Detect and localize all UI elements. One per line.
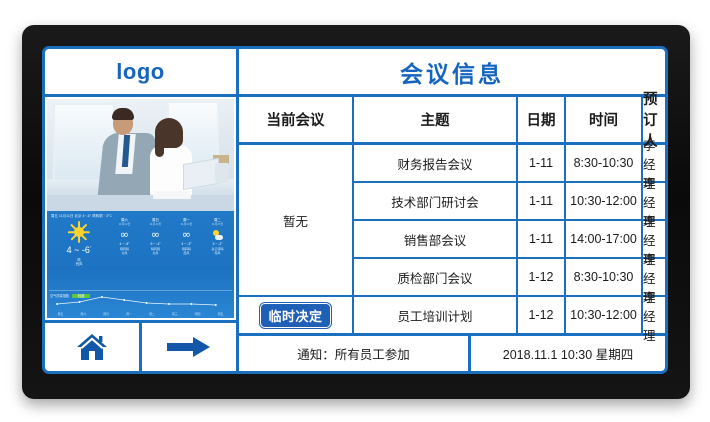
cell-subject: 技术部门研讨会	[354, 183, 518, 219]
cell-subject: 销售部会议	[354, 221, 518, 257]
cell-subject: 员工培训计划	[354, 297, 518, 333]
weather-today: 4 ~ -6° 晴 西风	[49, 220, 109, 267]
forecast-wind: 南风	[202, 251, 233, 255]
left-nav-bar	[45, 323, 236, 371]
footer-bar: 通知：所有员工参加 2018.11.1 10:30 星期四	[239, 336, 665, 371]
cell-date: 1-11	[518, 145, 566, 181]
weather-trend-chart	[49, 290, 232, 312]
weather-temp-unit: °	[90, 245, 92, 250]
left-panel: 周五 11月11日 北京 4~-6° 晴转阴 · 3°C 4 ~ -6°	[45, 97, 239, 371]
cell-subject: 财务报告会议	[354, 145, 518, 181]
forecast-wind: 北风	[109, 251, 140, 255]
table-row[interactable]: 技术部门研讨会 1-11 10:30-12:00 李经理	[354, 183, 665, 221]
cell-date: 1-11	[518, 221, 566, 257]
weather-temp-value: 4 ~ -6	[67, 245, 90, 255]
notice-text: 通知：所有员工参加	[239, 336, 471, 371]
screen: logo 会议信息	[42, 46, 668, 374]
header-bar: logo 会议信息	[45, 49, 665, 97]
weather-forecast-day: 周一 11月14日 ∞ 4 ~ -3° 阴转晴 西风	[171, 218, 202, 255]
forecast-date-label: 11月15日	[202, 223, 233, 227]
table-body: 暂无 临时决定 财务报告会议 1-11 8:30-10:30 李经理	[239, 145, 665, 336]
chart-axis-tick: 周三	[163, 313, 186, 317]
home-icon	[75, 332, 109, 362]
photo-cup	[215, 163, 229, 183]
chart-axis-tick: 周五	[209, 313, 232, 317]
photo-desk-front	[47, 195, 234, 211]
chart-axis-tick: 周日	[95, 313, 118, 317]
weather-forecast-day: 周二 11月15日 3 ~ -2° 多云转晴 南风	[202, 218, 233, 255]
photo-man-hair	[112, 108, 134, 120]
table-header-row: 当前会议 主题 日期 时间 预订人	[239, 97, 665, 145]
next-button[interactable]	[142, 323, 236, 371]
weather-widget[interactable]: 周五 11月11日 北京 4~-6° 晴转阴 · 3°C 4 ~ -6°	[47, 211, 234, 318]
current-meeting-column: 暂无 临时决定	[239, 145, 354, 336]
page-title-cell: 会议信息	[239, 49, 665, 94]
table-row[interactable]: 质检部门会议 1-12 8:30-10:30 李经理	[354, 259, 665, 297]
weather-forecast-day: 周日 11月13日 ∞ 5 ~ -4° 晴转阴 北风	[140, 218, 171, 255]
status-badge: 临时决定	[260, 303, 330, 328]
sun-icon	[68, 221, 90, 243]
logo-text: logo	[116, 59, 164, 85]
cell-date: 1-12	[518, 297, 566, 333]
cell-booker: 李经理	[643, 297, 665, 333]
logo-cell: logo	[45, 49, 239, 94]
arrow-right-icon	[167, 336, 211, 358]
cell-subject: 质检部门会议	[354, 259, 518, 295]
infinity-icon: ∞	[171, 227, 202, 241]
cell-time: 10:30-12:00	[566, 297, 643, 333]
cell-time: 8:30-10:30	[566, 145, 643, 181]
table-row[interactable]: 销售部会议 1-11 14:00-17:00 李经理	[354, 221, 665, 259]
chart-axis-tick: 周四	[186, 313, 209, 317]
office-photo	[47, 99, 234, 211]
weather-headline: 周五 11月11日 北京 4~-6° 晴转阴 · 3°C	[51, 214, 112, 219]
content-area: 周五 11月11日 北京 4~-6° 晴转阴 · 3°C 4 ~ -6°	[45, 97, 665, 371]
forecast-date-label: 11月12日	[109, 223, 140, 227]
weather-today-wind: 西风	[49, 262, 109, 267]
meeting-rows: 财务报告会议 1-11 8:30-10:30 李经理 技术部门研讨会 1-11 …	[354, 145, 665, 336]
media-panel: 周五 11月11日 北京 4~-6° 晴转阴 · 3°C 4 ~ -6°	[45, 97, 236, 323]
photo-woman-hair	[155, 118, 183, 148]
chart-axis-tick: 周一	[118, 313, 141, 317]
column-header-time: 时间	[566, 97, 643, 142]
sun-cloud-icon	[202, 227, 233, 241]
forecast-date-label: 11月14日	[171, 223, 202, 227]
datetime-text: 2018.11.1 10:30 星期四	[471, 336, 665, 371]
weather-today-temperature: 4 ~ -6°	[49, 244, 109, 256]
cell-time: 10:30-12:00	[566, 183, 643, 219]
table-row[interactable]: 财务报告会议 1-11 8:30-10:30 李经理	[354, 145, 665, 183]
column-header-current: 当前会议	[239, 97, 354, 142]
forecast-wind: 北风	[140, 251, 171, 255]
right-panel: 当前会议 主题 日期 时间 预订人 暂无 临时决定 财务	[239, 97, 665, 371]
cell-time: 8:30-10:30	[566, 259, 643, 295]
chart-axis-tick: 周二	[141, 313, 164, 317]
chart-axis-tick: 周六	[72, 313, 95, 317]
chart-axis-tick: 周五	[49, 313, 72, 317]
cell-date: 1-12	[518, 259, 566, 295]
display-device-bezel: logo 会议信息	[22, 25, 690, 399]
weather-forecast-list: 周六 11月12日 ∞ 4 ~ -5° 阴转晴 北风 周日 11月13日 ∞	[109, 218, 233, 255]
infinity-icon: ∞	[109, 227, 140, 241]
home-button[interactable]	[45, 323, 142, 371]
weather-chart-axis: 周五 周六 周日 周一 周二 周三 周四 周五	[49, 312, 232, 318]
column-header-subject: 主题	[354, 97, 518, 142]
page-title: 会议信息	[400, 55, 504, 89]
current-meeting-value: 暂无	[239, 145, 352, 297]
table-row[interactable]: 员工培训计划 1-12 10:30-12:00 李经理	[354, 297, 665, 336]
cell-time: 14:00-17:00	[566, 221, 643, 257]
column-header-date: 日期	[518, 97, 566, 142]
photo-notebook	[153, 191, 191, 199]
infinity-icon: ∞	[140, 227, 171, 241]
forecast-date-label: 11月13日	[140, 223, 171, 227]
cell-date: 1-11	[518, 183, 566, 219]
ad-hoc-booking-cell[interactable]: 临时决定	[239, 297, 352, 336]
weather-forecast-day: 周六 11月12日 ∞ 4 ~ -5° 阴转晴 北风	[109, 218, 140, 255]
forecast-wind: 西风	[171, 251, 202, 255]
